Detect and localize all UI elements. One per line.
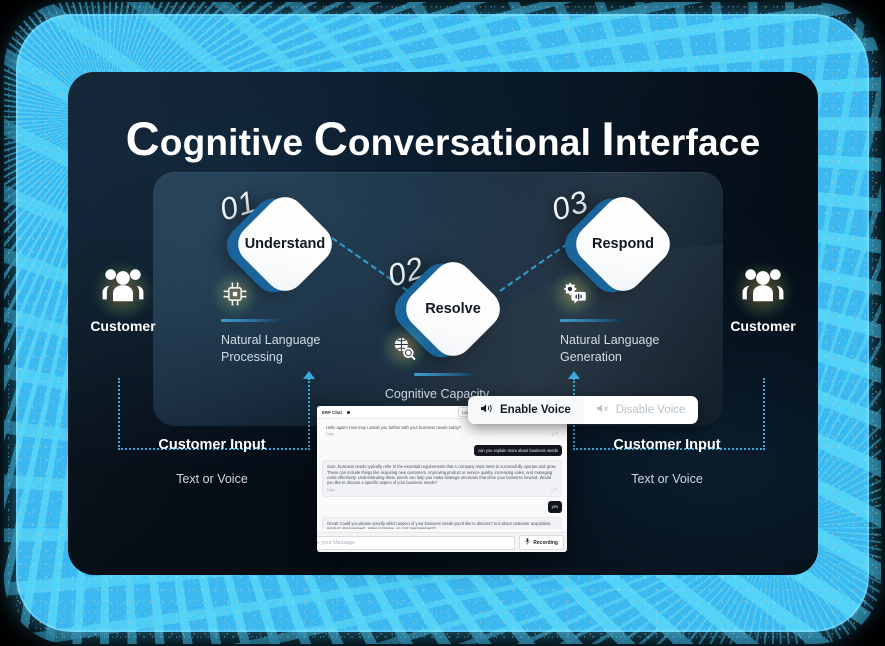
recording-button[interactable]: Recording bbox=[519, 535, 564, 550]
speaker-on-icon bbox=[481, 403, 494, 417]
chat-message-bot-3-text: Great! Could you please specify which as… bbox=[327, 521, 557, 529]
feature-cognitive-capacity: Cognitive Capacity bbox=[390, 334, 512, 403]
chat-message-user-1-text: can you explain more about business need… bbox=[478, 448, 558, 453]
copy-icon-1[interactable]: Copy bbox=[326, 432, 334, 437]
cpu-chip-icon bbox=[221, 280, 249, 308]
feature-nlp-caption: Natural Language Processing bbox=[221, 332, 351, 366]
copy-icon-2[interactable]: Copy bbox=[327, 488, 335, 493]
title-word-3: nterface bbox=[615, 122, 761, 163]
disable-voice-label: Disable Voice bbox=[616, 404, 686, 416]
node-understand-label: Understand bbox=[245, 236, 326, 252]
customer-right: Customer bbox=[708, 269, 818, 334]
feature-nlp-rule bbox=[221, 319, 283, 322]
customer-input-right-title: Customer Input bbox=[573, 437, 761, 453]
node-respond[interactable]: Respond bbox=[584, 205, 662, 283]
customer-right-label: Customer bbox=[708, 318, 818, 334]
page-title: Cognitive Conversational Interface bbox=[68, 111, 818, 166]
node-understand[interactable]: Understand bbox=[246, 205, 324, 283]
people-group-icon bbox=[100, 269, 146, 307]
message-input[interactable]: Type your Message bbox=[317, 536, 515, 550]
customer-input-right-sub: Text or Voice bbox=[573, 472, 761, 486]
node-resolve-label: Resolve bbox=[425, 301, 481, 317]
chat-message-user-2-text: yes bbox=[552, 504, 558, 509]
chat-message-bot-1-text: Hello again! How may I assist you furthe… bbox=[326, 425, 558, 430]
enable-voice-label: Enable Voice bbox=[500, 404, 571, 416]
brain-search-icon bbox=[390, 334, 418, 362]
chat-message-user-2: yes bbox=[548, 501, 562, 512]
chat-message-bot-1-meta: Copy △ ▽ bbox=[326, 432, 558, 437]
title-word-1: ognitive bbox=[160, 122, 303, 163]
title-cap-1: C bbox=[126, 112, 160, 165]
chat-message-bot-2: Sure, business needs typically refer to … bbox=[322, 460, 562, 497]
voice-control-bar: Enable Voice Disable Voice bbox=[468, 396, 698, 424]
customer-input-left-title: Customer Input bbox=[118, 437, 306, 453]
speaker-off-icon bbox=[597, 403, 610, 417]
chat-widget[interactable]: ERP Chat Language English ▾ Hello again!… bbox=[317, 406, 567, 552]
feature-nlg-rule bbox=[560, 319, 622, 322]
people-group-icon bbox=[740, 269, 786, 307]
chat-brand-label: ERP Chat bbox=[322, 410, 342, 415]
disable-voice-button[interactable]: Disable Voice bbox=[584, 396, 699, 424]
customer-input-right-arrow bbox=[568, 371, 580, 379]
chat-message-bot-1: Hello again! How may I assist you furthe… bbox=[322, 422, 562, 441]
chat-message-bot-3: Great! Could you please specify which as… bbox=[322, 517, 562, 529]
microphone-icon bbox=[525, 538, 530, 547]
customer-left-label: Customer bbox=[68, 318, 178, 334]
customer-input-left-sub: Text or Voice bbox=[118, 472, 306, 486]
title-cap-3: I bbox=[602, 112, 615, 165]
recording-label: Recording bbox=[533, 540, 558, 546]
chat-message-bot-2-meta: Copy △ ▽ bbox=[327, 488, 557, 493]
feature-nlg-caption: Natural Language Generation bbox=[560, 332, 690, 366]
chat-message-bot-2-text: Sure, business needs typically refer to … bbox=[327, 464, 557, 486]
feature-nlp: Natural Language Processing bbox=[221, 280, 351, 366]
title-cap-2: C bbox=[314, 112, 348, 165]
node-respond-label: Respond bbox=[592, 236, 654, 252]
feature-cc-rule bbox=[414, 373, 476, 376]
chat-message-list[interactable]: Hello again! How may I assist you furthe… bbox=[317, 419, 567, 529]
chat-status-dot bbox=[347, 411, 350, 414]
feature-nlg: Natural Language Generation bbox=[560, 280, 690, 366]
feedback-icons-2[interactable]: △ ▽ bbox=[551, 488, 557, 493]
chat-input-bar: Type your Message Recording ▶ bbox=[317, 532, 567, 552]
chat-message-user-1: can you explain more about business need… bbox=[474, 445, 562, 456]
enable-voice-button[interactable]: Enable Voice bbox=[468, 396, 584, 424]
customer-left: Customer bbox=[68, 269, 178, 334]
customer-input-left-arrow bbox=[303, 371, 315, 379]
gear-chat-icon bbox=[560, 280, 588, 308]
title-word-2: onversational bbox=[348, 122, 591, 163]
feedback-icons-1[interactable]: △ ▽ bbox=[552, 432, 558, 437]
